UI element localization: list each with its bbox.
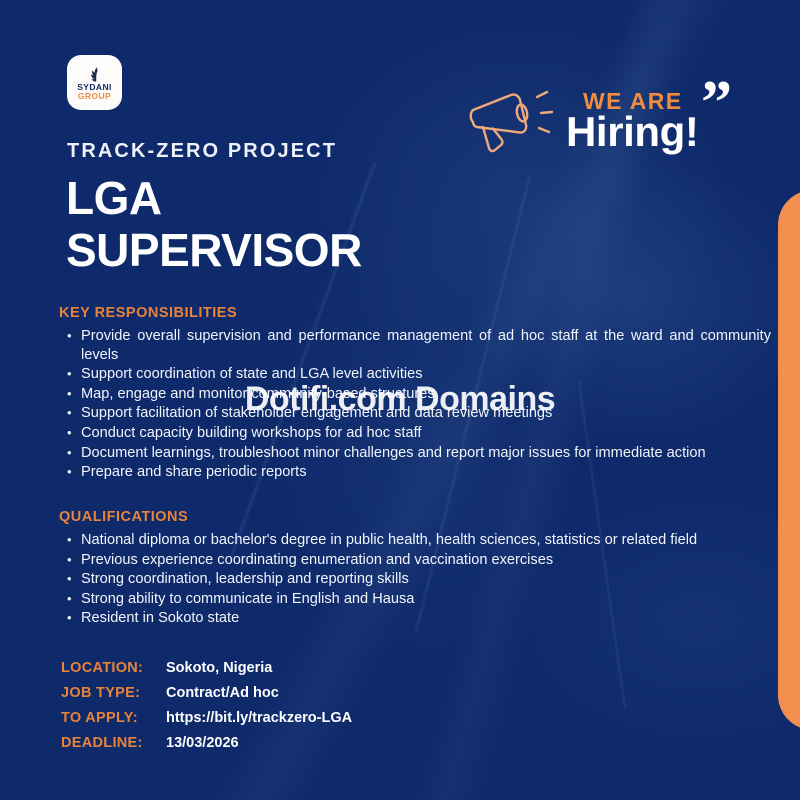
list-item: National diploma or bachelor's degree in…	[81, 531, 757, 550]
deadline-label: DEADLINE:	[61, 735, 166, 751]
list-item: Map, engage and monitor community-based …	[81, 385, 771, 404]
list-item: Support coordination of state and LGA le…	[81, 365, 771, 384]
list-item: Conduct capacity building workshops for …	[81, 424, 771, 443]
logo-company-sub: GROUP	[78, 92, 111, 102]
bird-flame-logo-icon	[88, 67, 102, 82]
job-type-label: JOB TYPE:	[61, 685, 166, 701]
qualifications-list: National diploma or bachelor's degree in…	[59, 531, 753, 629]
we-are-hiring-badge: WE ARE ” Hiring!	[463, 76, 753, 166]
list-item: Resident in Sokoto state	[81, 609, 757, 628]
deadline-value: 13/03/2026	[166, 735, 239, 751]
detail-row-location: LOCATION: Sokoto, Nigeria	[61, 660, 352, 685]
responsibilities-heading: KEY RESPONSIBILITIES	[59, 305, 237, 321]
apply-link[interactable]: https://bit.ly/trackzero-LGA	[166, 710, 352, 726]
megaphone-icon	[463, 82, 563, 154]
page-title: LGA SUPERVISOR	[66, 172, 362, 276]
to-apply-label: TO APPLY:	[61, 710, 166, 726]
job-details: LOCATION: Sokoto, Nigeria JOB TYPE: Cont…	[61, 660, 352, 760]
list-item: Support facilitation of stakeholder enga…	[81, 404, 771, 423]
list-item: Document learnings, troubleshoot minor c…	[81, 444, 771, 463]
list-item: Strong coordination, leadership and repo…	[81, 570, 757, 589]
list-item: Strong ability to communicate in English…	[81, 590, 757, 609]
job-type-value: Contract/Ad hoc	[166, 685, 279, 701]
list-item: Prepare and share periodic reports	[81, 463, 771, 482]
hiring-label: Hiring!	[566, 108, 699, 156]
responsibilities-list: Provide overall supervision and performa…	[59, 327, 753, 483]
list-item: Previous experience coordinating enumera…	[81, 551, 757, 570]
role-title-line-1: LGA	[66, 172, 162, 224]
location-label: LOCATION:	[61, 660, 166, 676]
job-poster: SYDANI GROUP WE ARE ” Hiring! TRACK-ZERO…	[0, 0, 800, 800]
detail-row-deadline: DEADLINE: 13/03/2026	[61, 735, 352, 760]
detail-row-job-type: JOB TYPE: Contract/Ad hoc	[61, 685, 352, 710]
list-item: Provide overall supervision and performa…	[81, 327, 771, 364]
orange-accent-bar	[778, 190, 800, 730]
location-value: Sokoto, Nigeria	[166, 660, 272, 676]
qualifications-heading: QUALIFICATIONS	[59, 509, 188, 525]
quotation-mark-icon: ”	[701, 72, 732, 134]
sydani-group-logo: SYDANI GROUP	[67, 55, 122, 110]
detail-row-to-apply: TO APPLY: https://bit.ly/trackzero-LGA	[61, 710, 352, 735]
project-label: TRACK-ZERO PROJECT	[67, 140, 337, 163]
role-title-line-2: SUPERVISOR	[66, 224, 362, 276]
